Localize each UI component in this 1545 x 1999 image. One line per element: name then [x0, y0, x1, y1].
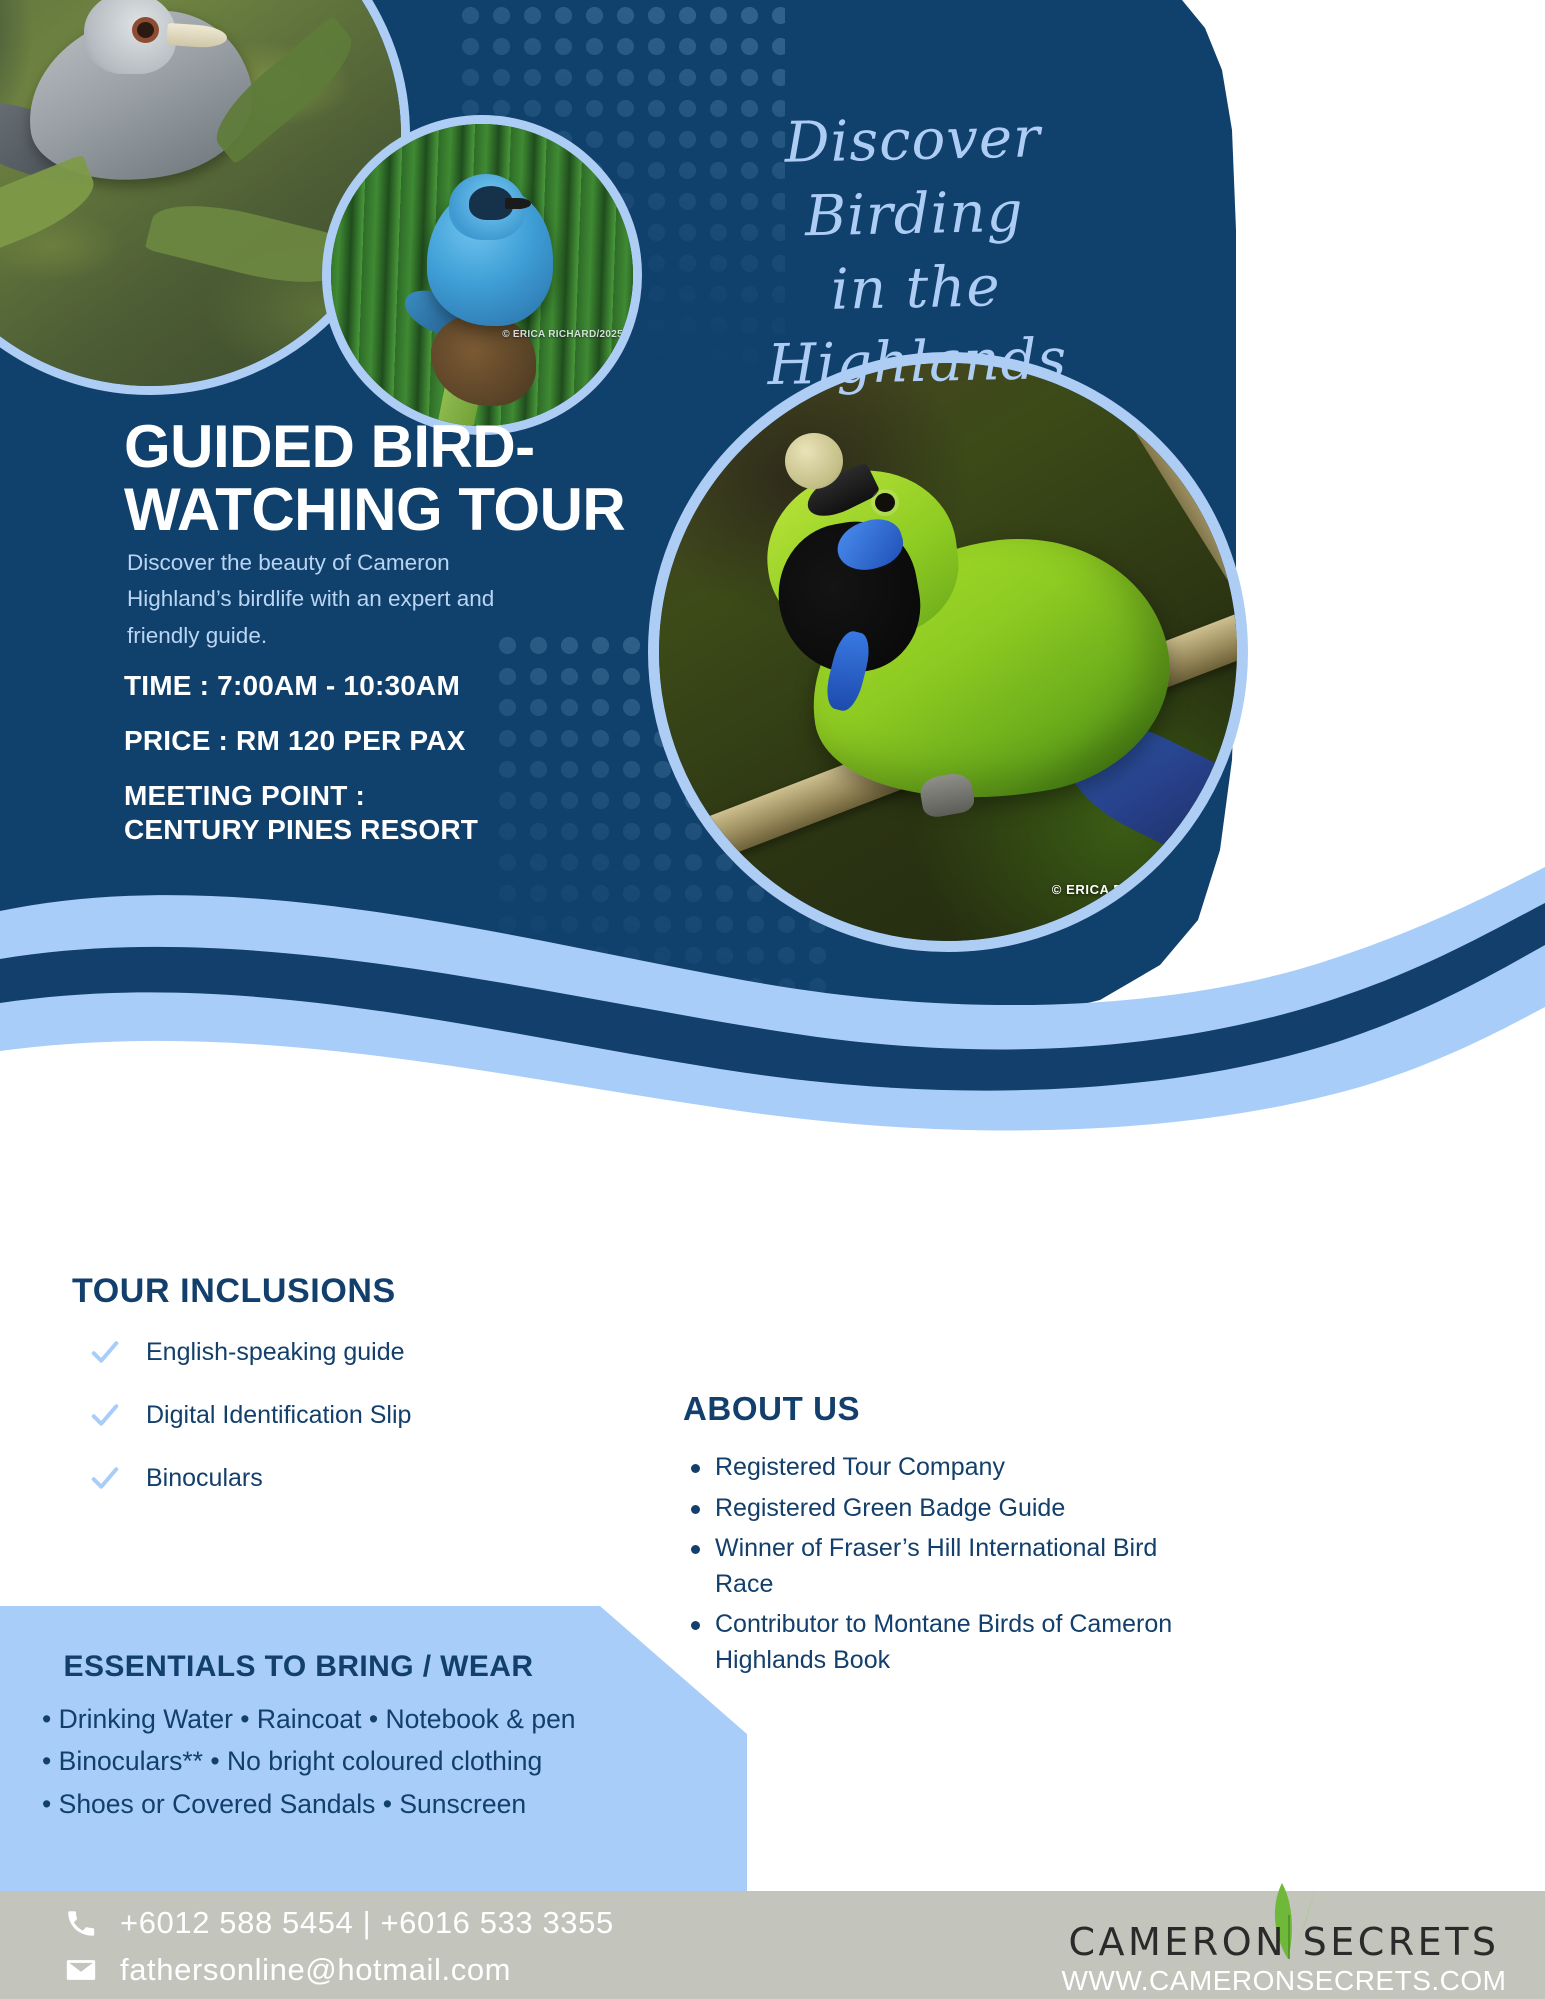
- list-item: Binoculars: [72, 1463, 672, 1493]
- list-item: Registered Tour Company: [683, 1450, 1203, 1486]
- photo-credit-small: © ERICA RICHARD/2025: [502, 329, 623, 340]
- about-title: ABOUT US: [683, 1390, 1203, 1428]
- check-icon: [90, 1400, 120, 1430]
- flyer-page: © ERICA RICHARD/2025 © ERICA RICHARD/202…: [0, 0, 1545, 1999]
- tour-description: Discover the beauty of Cameron Highland’…: [127, 545, 557, 654]
- contact-info: +6012 588 5454 | +6016 533 3355 fatherso…: [62, 1899, 614, 1993]
- brand-url: WWW.CAMERONSECRETS.COM: [1059, 1965, 1509, 1997]
- script-headline: Discover Birding in the Highlands: [692, 99, 1138, 404]
- inclusion-label: Binoculars: [146, 1464, 263, 1493]
- phone-icon: [62, 1904, 100, 1942]
- essentials-line: • Drinking Water • Raincoat • Notebook &…: [42, 1698, 747, 1740]
- inclusions-list: English-speaking guide Digital Identific…: [72, 1337, 672, 1493]
- blue-bird-beak: [505, 198, 531, 209]
- envelope-icon: [62, 1951, 100, 1989]
- page-title-line1: GUIDED BIRD-: [124, 415, 744, 478]
- wave-divider: [0, 855, 1545, 1135]
- essentials-lines: • Drinking Water • Raincoat • Notebook &…: [0, 1698, 747, 1825]
- email-address: fathersonline@hotmail.com: [120, 1952, 511, 1988]
- leaf-shape: [0, 154, 103, 270]
- tour-details: TIME : 7:00AM - 10:30AM PRICE : RM 120 P…: [124, 672, 684, 871]
- meeting-point-label: MEETING POINT :: [124, 782, 684, 810]
- tour-price: PRICE : RM 120 PER PAX: [124, 727, 684, 755]
- check-icon: [90, 1463, 120, 1493]
- inclusion-label: English-speaking guide: [146, 1338, 405, 1367]
- tour-time: TIME : 7:00AM - 10:30AM: [124, 672, 684, 700]
- grey-bird-eye: [137, 22, 154, 38]
- essentials-line: • Shoes or Covered Sandals • Sunscreen: [42, 1783, 747, 1825]
- leafbird-eye: [875, 493, 895, 512]
- berry-in-beak: [785, 433, 843, 489]
- list-item: Contributor to Montane Birds of Cameron …: [683, 1607, 1203, 1678]
- list-item: Digital Identification Slip: [72, 1400, 672, 1430]
- photo-blue-flycatcher: © ERICA RICHARD/2025: [322, 115, 642, 435]
- inclusions-title: TOUR INCLUSIONS: [72, 1272, 672, 1311]
- meeting-point-value: CENTURY PINES RESORT: [124, 816, 684, 844]
- list-item: English-speaking guide: [72, 1337, 672, 1367]
- list-item: Winner of Fraser’s Hill International Bi…: [683, 1531, 1203, 1602]
- phone-row[interactable]: +6012 588 5454 | +6016 533 3355: [62, 1899, 614, 1946]
- page-title: GUIDED BIRD- WATCHING TOUR: [124, 415, 744, 541]
- footer-contact-bar: +6012 588 5454 | +6016 533 3355 fatherso…: [0, 1891, 1545, 1999]
- inclusion-label: Digital Identification Slip: [146, 1401, 411, 1430]
- essentials-panel: ESSENTIALS TO BRING / WEAR • Drinking Wa…: [0, 1606, 747, 1891]
- list-item: Registered Green Badge Guide: [683, 1491, 1203, 1527]
- tour-inclusions-section: TOUR INCLUSIONS English-speaking guide D…: [72, 1272, 672, 1526]
- blue-bird-image: © ERICA RICHARD/2025: [331, 124, 633, 426]
- essentials-line: • Binoculars** • No bright coloured clot…: [42, 1740, 747, 1782]
- about-list: Registered Tour Company Registered Green…: [683, 1450, 1203, 1678]
- brand-logo[interactable]: CAMERON SECRETS WWW.CAMERONSECRETS.COM: [1059, 1897, 1509, 1997]
- script-headline-line2: in the Highlands: [695, 247, 1138, 404]
- grey-bird-head: [84, 0, 176, 74]
- phone-number: +6012 588 5454 | +6016 533 3355: [120, 1905, 614, 1941]
- script-headline-line1: Discover Birding: [784, 105, 1041, 249]
- page-title-line2: WATCHING TOUR: [124, 478, 744, 541]
- check-icon: [90, 1337, 120, 1367]
- brand-name: CAMERON SECRETS: [1059, 1897, 1509, 1961]
- email-row[interactable]: fathersonline@hotmail.com: [62, 1946, 614, 1993]
- about-us-section: ABOUT US Registered Tour Company Registe…: [683, 1390, 1203, 1683]
- essentials-title: ESSENTIALS TO BRING / WEAR: [0, 1650, 747, 1684]
